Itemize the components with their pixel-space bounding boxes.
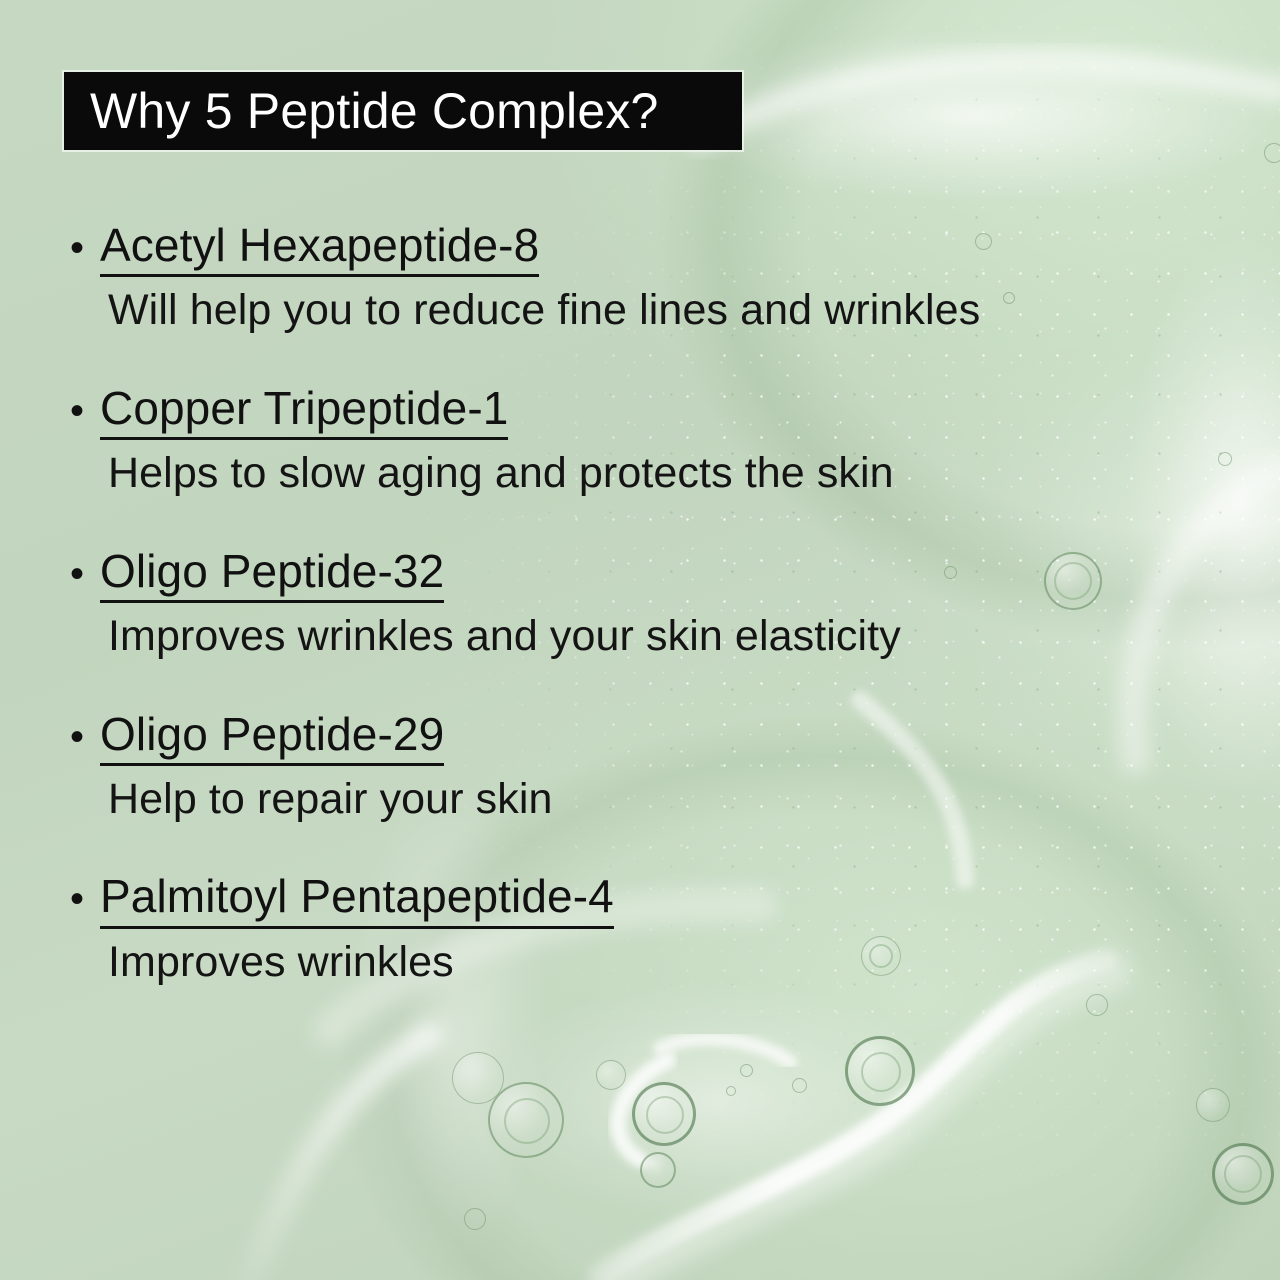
bullet-point-icon: •	[64, 879, 100, 919]
bullet-point-icon: •	[64, 391, 100, 431]
page-title: Why 5 Peptide Complex?	[90, 86, 659, 136]
peptide-name: Acetyl Hexapeptide-8	[100, 218, 539, 277]
peptide-heading: • Oligo Peptide-32	[64, 544, 1224, 603]
peptide-description: Improves wrinkles	[108, 937, 1224, 989]
bullet-point-icon: •	[64, 717, 100, 757]
peptide-description: Helps to slow aging and protects the ski…	[108, 448, 1224, 500]
list-item: • Palmitoyl Pentapeptide-4 Improves wrin…	[64, 869, 1224, 988]
peptide-description: Will help you to reduce fine lines and w…	[108, 285, 1224, 337]
peptide-name: Copper Tripeptide-1	[100, 381, 508, 440]
peptide-name: Oligo Peptide-32	[100, 544, 444, 603]
peptide-heading: • Acetyl Hexapeptide-8	[64, 218, 1224, 277]
list-item: • Oligo Peptide-29 Help to repair your s…	[64, 707, 1224, 826]
bullet-point-icon: •	[64, 554, 100, 594]
peptide-list: • Acetyl Hexapeptide-8 Will help you to …	[64, 218, 1224, 988]
peptide-name: Palmitoyl Pentapeptide-4	[100, 869, 614, 928]
peptide-heading: • Palmitoyl Pentapeptide-4	[64, 869, 1224, 928]
peptide-name: Oligo Peptide-29	[100, 707, 444, 766]
peptide-description: Help to repair your skin	[108, 774, 1224, 826]
bullet-point-icon: •	[64, 228, 100, 268]
peptide-infographic: Why 5 Peptide Complex? • Acetyl Hexapept…	[0, 0, 1280, 1280]
peptide-heading: • Oligo Peptide-29	[64, 707, 1224, 766]
list-item: • Copper Tripeptide-1 Helps to slow agin…	[64, 381, 1224, 500]
list-item: • Oligo Peptide-32 Improves wrinkles and…	[64, 544, 1224, 663]
peptide-heading: • Copper Tripeptide-1	[64, 381, 1224, 440]
list-item: • Acetyl Hexapeptide-8 Will help you to …	[64, 218, 1224, 337]
title-banner: Why 5 Peptide Complex?	[64, 72, 742, 150]
peptide-description: Improves wrinkles and your skin elastici…	[108, 611, 1224, 663]
